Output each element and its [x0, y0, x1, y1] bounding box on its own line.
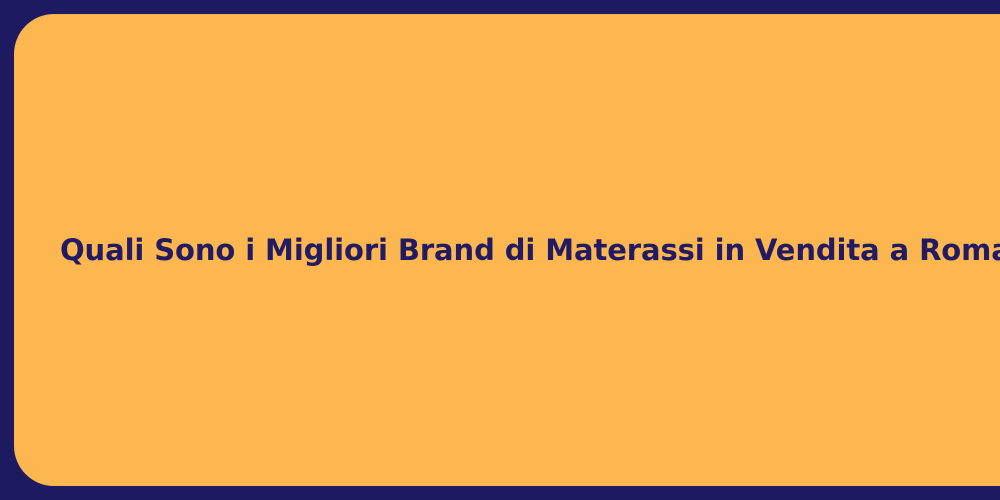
banner-frame: Quali Sono i Migliori Brand di Materassi…	[0, 0, 1000, 500]
banner-panel: Quali Sono i Migliori Brand di Materassi…	[14, 14, 1000, 486]
banner-heading: Quali Sono i Migliori Brand di Materassi…	[60, 232, 1000, 268]
